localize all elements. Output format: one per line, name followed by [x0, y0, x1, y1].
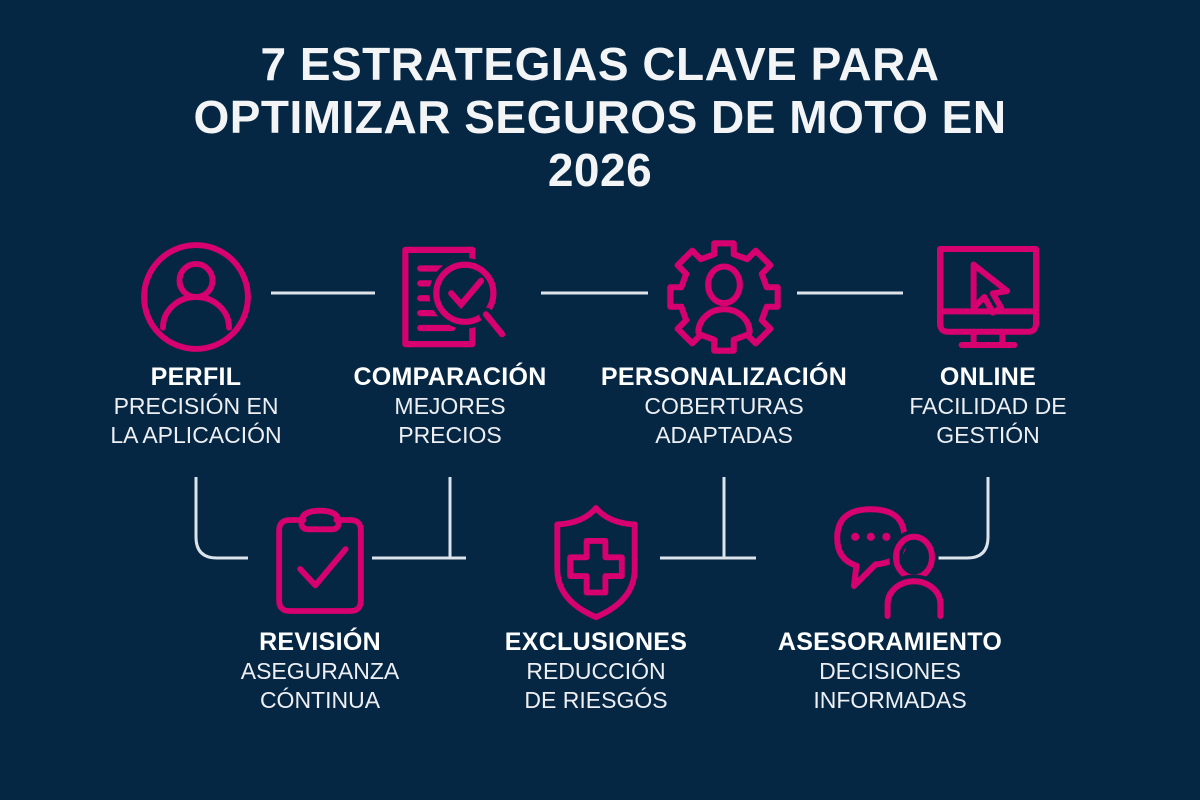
step-subtitle-line-2: INFORMADAS: [760, 686, 1020, 715]
step-subtitle-line-1: REDUCCIÓN: [466, 657, 726, 686]
step-subtitle-line-1: DECISIONES: [760, 657, 1020, 686]
step-subtitle-line-2: ADAPTADAS: [594, 421, 854, 450]
step-subtitle: MEJORES PRECIOS: [320, 392, 580, 450]
step-exclusiones: EXCLUSIONES REDUCCIÓN DE RIESGÓS: [466, 497, 726, 715]
document-magnifier-check-icon: [320, 232, 580, 362]
step-subtitle-line-2: LA APLICACIÓN: [66, 421, 326, 450]
step-subtitle: ASEGURANZA CÓNTINUA: [190, 657, 450, 715]
chat-bubble-person-icon: [760, 497, 1020, 627]
step-subtitle-line-1: FACILIDAD DE: [858, 392, 1118, 421]
step-comparacion: COMPARACIÓN MEJORES PRECIOS: [320, 232, 580, 450]
step-revision: REVISIÓN ASEGURANZA CÓNTINUA: [190, 497, 450, 715]
title-line-2: OPTIMIZAR SEGUROS DE MOTO EN: [0, 91, 1200, 144]
step-title: PERSONALIZACIÓN: [594, 362, 854, 392]
title-line-3: 2026: [0, 144, 1200, 197]
step-subtitle-line-1: COBERTURAS: [594, 392, 854, 421]
step-subtitle: PRECISIÓN EN LA APLICACIÓN: [66, 392, 326, 450]
step-title: ASESORAMIENTO: [760, 627, 1020, 657]
user-circle-icon: [66, 232, 326, 362]
clipboard-check-icon: [190, 497, 450, 627]
step-title: REVISIÓN: [190, 627, 450, 657]
step-subtitle-line-2: PRECIOS: [320, 421, 580, 450]
monitor-cursor-icon: [858, 232, 1118, 362]
infographic-canvas: 7 ESTRATEGIAS CLAVE PARA OPTIMIZAR SEGUR…: [0, 0, 1200, 800]
step-subtitle: DECISIONES INFORMADAS: [760, 657, 1020, 715]
step-subtitle-line-1: ASEGURANZA: [190, 657, 450, 686]
shield-cross-icon: [466, 497, 726, 627]
step-asesoramiento: ASESORAMIENTO DECISIONES INFORMADAS: [760, 497, 1020, 715]
step-online: ONLINE FACILIDAD DE GESTIÓN: [858, 232, 1118, 450]
step-subtitle-line-1: MEJORES: [320, 392, 580, 421]
step-title: EXCLUSIONES: [466, 627, 726, 657]
page-title: 7 ESTRATEGIAS CLAVE PARA OPTIMIZAR SEGUR…: [0, 38, 1200, 197]
step-title: ONLINE: [858, 362, 1118, 392]
step-subtitle-line-1: PRECISIÓN EN: [66, 392, 326, 421]
step-subtitle-line-2: CÓNTINUA: [190, 686, 450, 715]
title-line-1: 7 ESTRATEGIAS CLAVE PARA: [0, 38, 1200, 91]
step-perfil: PERFIL PRECISIÓN EN LA APLICACIÓN: [66, 232, 326, 450]
step-personalizacion: PERSONALIZACIÓN COBERTURAS ADAPTADAS: [594, 232, 854, 450]
step-subtitle-line-2: DE RIESGÓS: [466, 686, 726, 715]
step-title: PERFIL: [66, 362, 326, 392]
gear-user-icon: [594, 232, 854, 362]
step-subtitle: COBERTURAS ADAPTADAS: [594, 392, 854, 450]
step-subtitle-line-2: GESTIÓN: [858, 421, 1118, 450]
step-subtitle: REDUCCIÓN DE RIESGÓS: [466, 657, 726, 715]
step-title: COMPARACIÓN: [320, 362, 580, 392]
step-subtitle: FACILIDAD DE GESTIÓN: [858, 392, 1118, 450]
